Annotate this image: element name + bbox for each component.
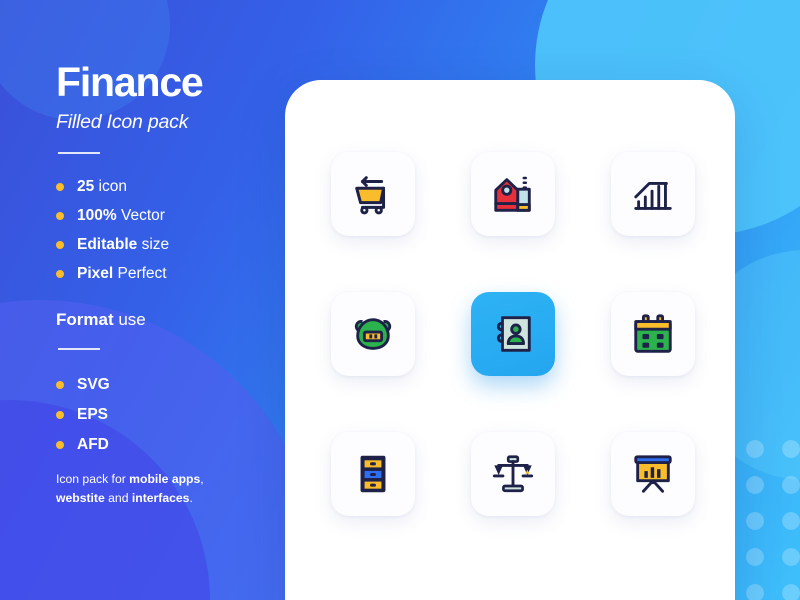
icon-showcase-card <box>285 80 735 600</box>
icon-tile-filing-cabinet[interactable] <box>331 432 415 516</box>
filing-cabinet-icon <box>350 451 396 497</box>
icon-tile-bank-building[interactable] <box>471 152 555 236</box>
list-item: Editable size <box>56 236 285 254</box>
list-item: 25 icon <box>56 178 285 196</box>
list-item: 100% Vector <box>56 207 285 225</box>
bullet-dot-icon <box>56 441 64 449</box>
calendar-icon <box>630 311 676 357</box>
presentation-chart-icon <box>630 451 676 497</box>
feature-strong: 100% <box>77 207 117 224</box>
icon-tile-calendar[interactable] <box>611 292 695 376</box>
icon-tile-balance-scale[interactable] <box>471 432 555 516</box>
feature-rest: icon <box>94 178 127 195</box>
icon-tile-presentation-chart[interactable] <box>611 432 695 516</box>
bullet-dot-icon <box>56 381 64 389</box>
bullet-dot-icon <box>56 270 64 278</box>
icon-grid <box>331 152 695 516</box>
format-label: EPS <box>77 406 108 424</box>
bullet-dot-icon <box>56 411 64 419</box>
growth-bar-chart-icon <box>630 171 676 217</box>
list-item: EPS <box>56 406 285 424</box>
bank-building-icon <box>490 171 536 217</box>
page-subtitle: Filled Icon pack <box>56 111 285 134</box>
icon-tile-growth-bar-chart[interactable] <box>611 152 695 236</box>
list-item: Pixel Perfect <box>56 265 285 283</box>
balance-scale-icon <box>490 451 536 497</box>
format-label: AFD <box>77 436 109 454</box>
bullet-dot-icon <box>56 241 64 249</box>
footer-line1-bold: mobile apps <box>129 472 200 486</box>
feature-list: 25 icon 100% Vector Editable size Pixel … <box>56 178 285 283</box>
divider-top <box>58 152 100 154</box>
format-heading-strong: Format <box>56 310 114 329</box>
feature-strong: Pixel <box>77 265 113 282</box>
footer-line1-pre: Icon pack for <box>56 472 129 486</box>
footer-line2-bold2: interfaces <box>132 491 190 505</box>
feature-strong: Editable <box>77 236 137 253</box>
icon-tile-contact-book[interactable] <box>471 292 555 376</box>
feature-strong: 25 <box>77 178 94 195</box>
divider-format <box>58 348 100 350</box>
contact-book-icon <box>490 311 536 357</box>
footer-line2-post: . <box>189 491 192 505</box>
format-heading-rest: use <box>114 310 146 329</box>
list-item: SVG <box>56 376 285 394</box>
list-item: AFD <box>56 436 285 454</box>
footer-line1-post: , <box>200 472 203 486</box>
feature-rest: Vector <box>117 207 165 224</box>
info-panel: Finance Filled Icon pack 25 icon 100% Ve… <box>0 0 285 600</box>
footer-line2-bold1: webstite <box>56 491 105 505</box>
page-title: Finance <box>56 62 285 103</box>
footer-line2-mid: and <box>105 491 132 505</box>
format-label: SVG <box>77 376 110 394</box>
icon-tile-shopping-cart-return[interactable] <box>331 152 415 236</box>
format-list: SVG EPS AFD <box>56 376 285 454</box>
bullet-dot-icon <box>56 212 64 220</box>
format-heading: Format use <box>56 310 285 330</box>
piggy-bank-icon <box>350 311 396 357</box>
icon-tile-piggy-bank[interactable] <box>331 292 415 376</box>
shopping-cart-return-icon <box>350 171 396 217</box>
footer-note: Icon pack for mobile apps, webstite and … <box>56 470 246 508</box>
bullet-dot-icon <box>56 183 64 191</box>
feature-rest: Perfect <box>113 265 166 282</box>
feature-rest: size <box>137 236 169 253</box>
